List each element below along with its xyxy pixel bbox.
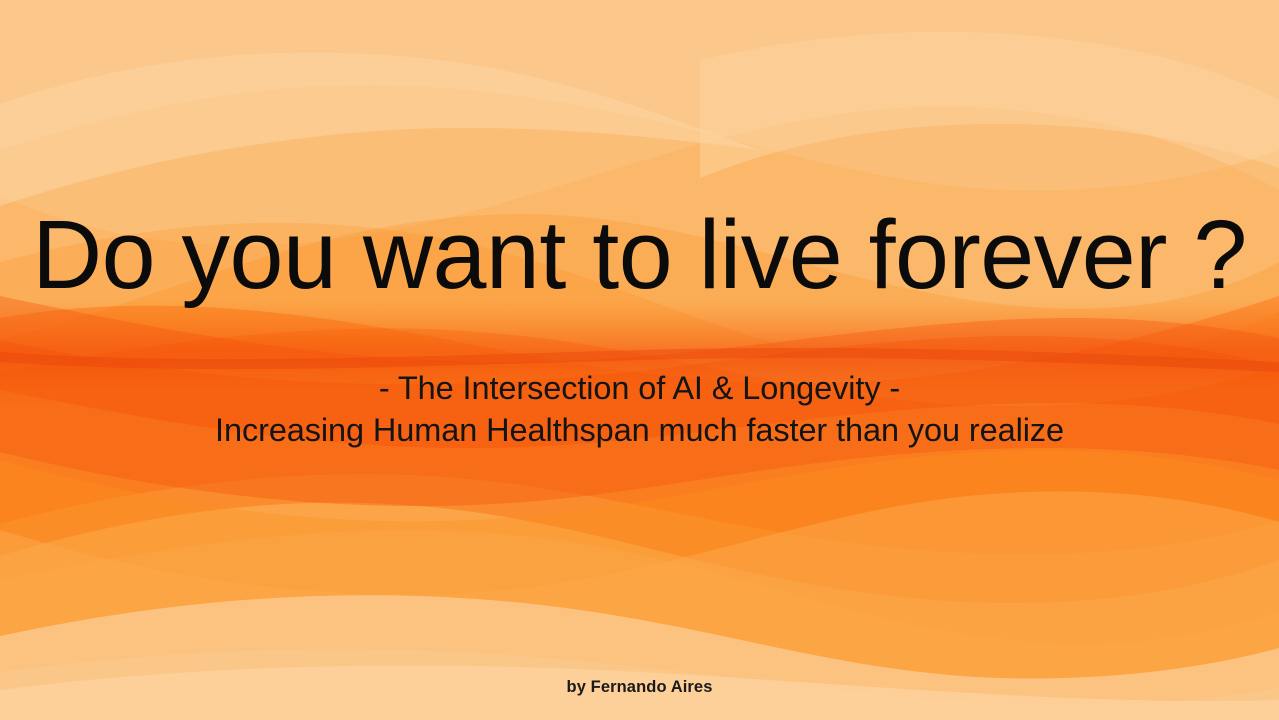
author-byline: by Fernando Aires (0, 678, 1279, 697)
subtitle-line-2: Increasing Human Healthspan much faster … (0, 410, 1279, 452)
slide-content: Do you want to live forever ? - The Inte… (0, 0, 1279, 720)
subtitle-line-1: - The Intersection of AI & Longevity - (0, 368, 1279, 410)
page-title: Do you want to live forever ? (0, 204, 1279, 307)
title-slide: Do you want to live forever ? - The Inte… (0, 0, 1279, 720)
slide-subtitle: - The Intersection of AI & Longevity - I… (0, 368, 1279, 451)
